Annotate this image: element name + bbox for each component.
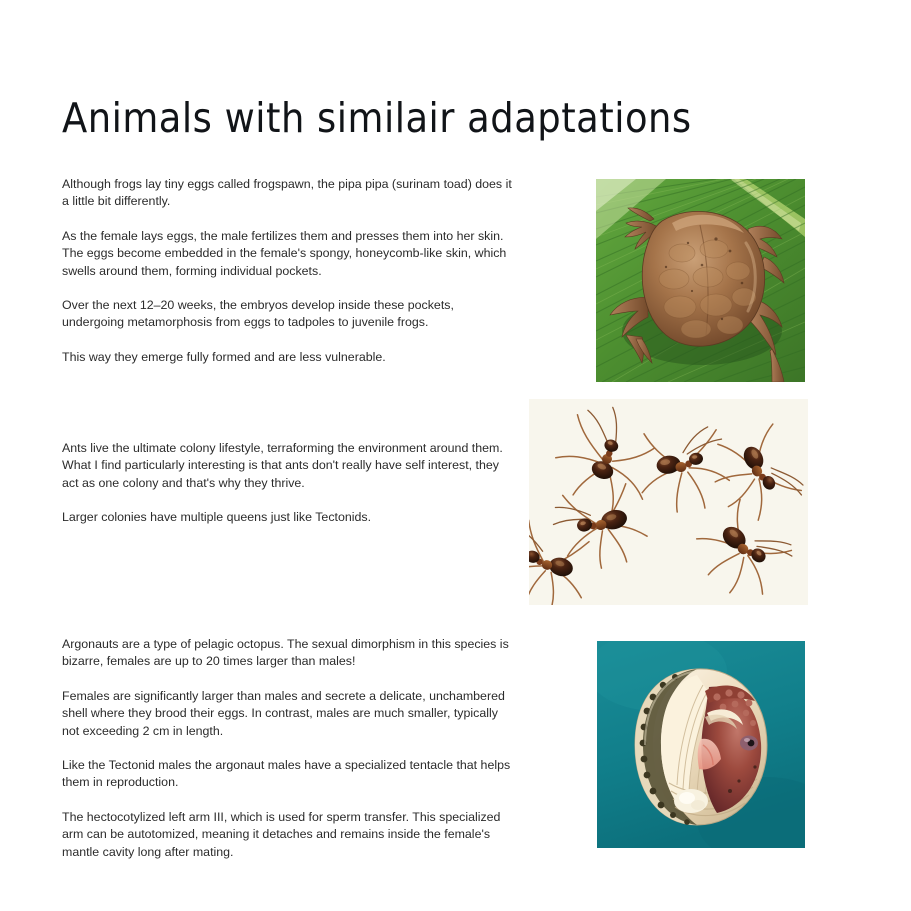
surinam-toad-photo	[596, 179, 805, 382]
paragraph: Over the next 12–20 weeks, the embryos d…	[62, 297, 514, 332]
paragraph: Argonauts are a type of pelagic octopus.…	[62, 636, 514, 671]
paragraph: This way they emerge fully formed and ar…	[62, 349, 514, 366]
section-toad-text: Although frogs lay tiny eggs called frog…	[62, 176, 514, 366]
argonaut-photo	[597, 641, 805, 848]
paragraph: Larger colonies have multiple queens jus…	[62, 509, 514, 526]
paragraph: Ants live the ultimate colony lifestyle,…	[62, 440, 514, 492]
paragraph: Although frogs lay tiny eggs called frog…	[62, 176, 514, 211]
section-ants-text: Ants live the ultimate colony lifestyle,…	[62, 440, 514, 527]
paragraph: Females are significantly larger than ma…	[62, 688, 514, 740]
paragraph: The hectocotylized left arm III, which i…	[62, 809, 514, 861]
paragraph: Like the Tectonid males the argonaut mal…	[62, 757, 514, 792]
paragraph: As the female lays eggs, the male fertil…	[62, 228, 514, 280]
section-argonaut-text: Argonauts are a type of pelagic octopus.…	[62, 636, 514, 861]
page-title: Animals with similair adaptations	[62, 93, 692, 143]
fire-ants-photo	[529, 399, 808, 605]
document-page: Animals with similair adaptations Althou…	[0, 0, 911, 911]
